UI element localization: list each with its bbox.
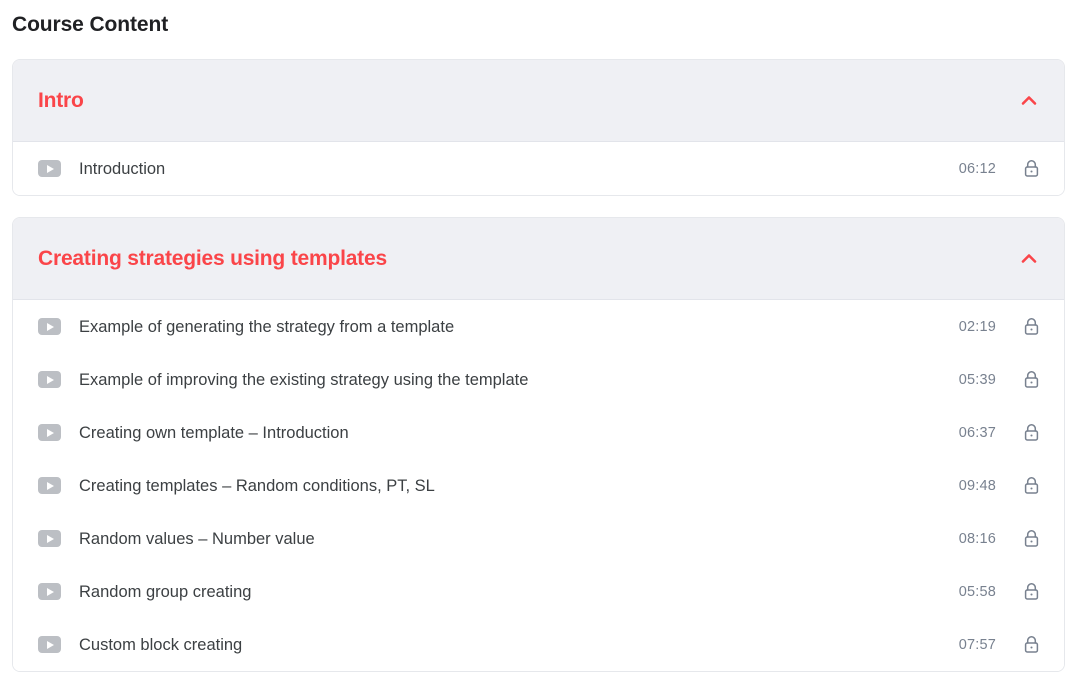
- course-section-0: Intro Introduction 06:12: [12, 59, 1065, 196]
- lock-icon: [1022, 634, 1041, 655]
- section-header[interactable]: Creating strategies using templates: [13, 218, 1064, 300]
- lesson-title: Example of generating the strategy from …: [79, 316, 454, 338]
- lesson-duration: 09:48: [954, 478, 996, 494]
- lock-icon: [1022, 158, 1041, 179]
- lesson-meta: 09:48: [954, 475, 1041, 496]
- lesson-row-1-3[interactable]: Creating templates – Random conditions, …: [13, 459, 1064, 512]
- page-title: Course Content: [12, 12, 1065, 38]
- lesson-main: Random values – Number value: [38, 528, 954, 550]
- lesson-title: Random group creating: [79, 581, 251, 603]
- lesson-main: Introduction: [38, 158, 954, 180]
- lesson-title: Introduction: [79, 158, 165, 180]
- play-icon: [38, 636, 61, 653]
- lesson-main: Creating templates – Random conditions, …: [38, 475, 954, 497]
- lock-icon: [1022, 369, 1041, 390]
- lesson-row-1-5[interactable]: Random group creating 05:58: [13, 565, 1064, 618]
- lesson-title: Creating templates – Random conditions, …: [79, 475, 435, 497]
- lesson-title: Custom block creating: [79, 634, 242, 656]
- lesson-main: Example of improving the existing strate…: [38, 369, 954, 391]
- play-icon: [38, 371, 61, 388]
- section-header[interactable]: Intro: [13, 60, 1064, 142]
- lesson-duration: 07:57: [954, 637, 996, 653]
- lesson-duration: 06:37: [954, 425, 996, 441]
- course-section-1: Creating strategies using templates Exam…: [12, 217, 1065, 672]
- lesson-row-1-4[interactable]: Random values – Number value 08:16: [13, 512, 1064, 565]
- lock-icon: [1022, 316, 1041, 337]
- course-sections-list: Intro Introduction 06:12: [12, 59, 1065, 672]
- section-title: Intro: [38, 88, 84, 114]
- lesson-main: Random group creating: [38, 581, 954, 603]
- lesson-duration: 06:12: [954, 161, 996, 177]
- lesson-meta: 08:16: [954, 528, 1041, 549]
- lesson-duration: 08:16: [954, 531, 996, 547]
- lesson-meta: 06:37: [954, 422, 1041, 443]
- lock-icon: [1022, 581, 1041, 602]
- play-icon: [38, 530, 61, 547]
- chevron-up-icon[interactable]: [1017, 247, 1041, 271]
- lesson-title: Random values – Number value: [79, 528, 315, 550]
- lesson-row-1-0[interactable]: Example of generating the strategy from …: [13, 300, 1064, 353]
- lesson-main: Creating own template – Introduction: [38, 422, 954, 444]
- lock-icon: [1022, 528, 1041, 549]
- play-icon: [38, 583, 61, 600]
- lock-icon: [1022, 475, 1041, 496]
- lesson-title: Example of improving the existing strate…: [79, 369, 528, 391]
- lesson-meta: 06:12: [954, 158, 1041, 179]
- lesson-list: Introduction 06:12: [13, 142, 1064, 195]
- play-icon: [38, 160, 61, 177]
- section-title: Creating strategies using templates: [38, 246, 387, 272]
- lock-icon: [1022, 422, 1041, 443]
- play-icon: [38, 477, 61, 494]
- lesson-duration: 05:58: [954, 584, 996, 600]
- lesson-meta: 05:39: [954, 369, 1041, 390]
- lesson-meta: 07:57: [954, 634, 1041, 655]
- lesson-row-1-2[interactable]: Creating own template – Introduction 06:…: [13, 406, 1064, 459]
- course-content-page: Course Content Intro Introduction 06:12: [0, 12, 1077, 672]
- lesson-row-1-1[interactable]: Example of improving the existing strate…: [13, 353, 1064, 406]
- chevron-up-icon[interactable]: [1017, 89, 1041, 113]
- lesson-meta: 05:58: [954, 581, 1041, 602]
- lesson-meta: 02:19: [954, 316, 1041, 337]
- play-icon: [38, 318, 61, 335]
- lesson-duration: 05:39: [954, 372, 996, 388]
- lesson-title: Creating own template – Introduction: [79, 422, 349, 444]
- lesson-main: Custom block creating: [38, 634, 954, 656]
- lesson-row-1-6[interactable]: Custom block creating 07:57: [13, 618, 1064, 671]
- lesson-list: Example of generating the strategy from …: [13, 300, 1064, 671]
- lesson-main: Example of generating the strategy from …: [38, 316, 954, 338]
- lesson-row-0-0[interactable]: Introduction 06:12: [13, 142, 1064, 195]
- play-icon: [38, 424, 61, 441]
- lesson-duration: 02:19: [954, 319, 996, 335]
